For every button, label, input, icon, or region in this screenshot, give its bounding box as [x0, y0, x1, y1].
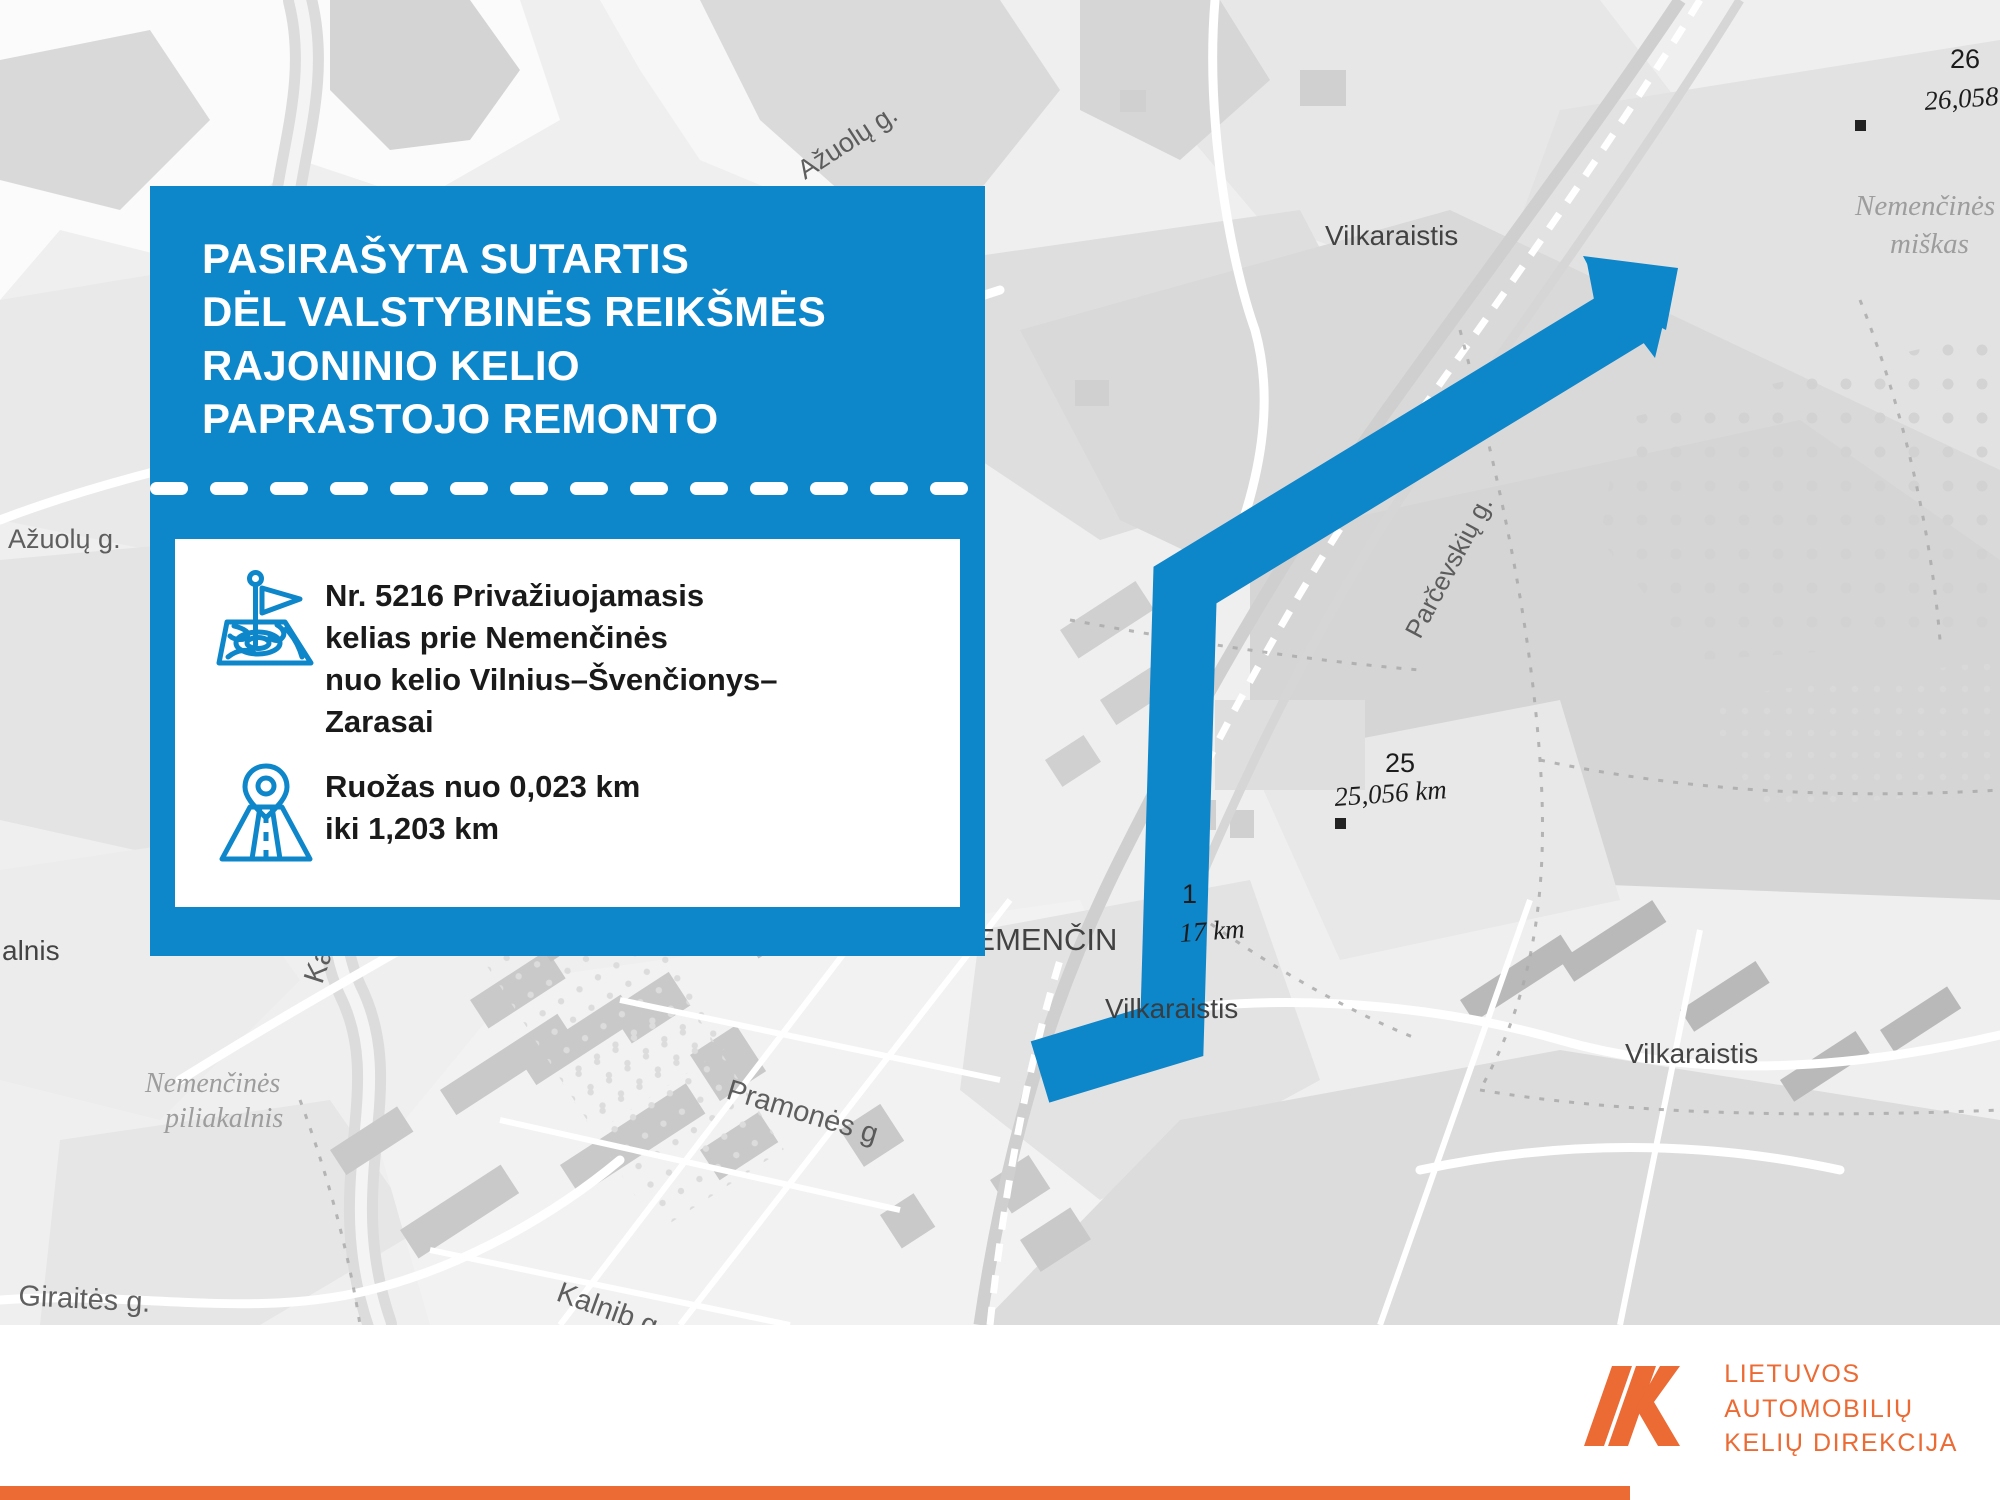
footer: LIETUVOS AUTOMOBILIŲ KELIŲ DIREKCIJA [0, 1325, 2000, 1500]
dashed-separator [150, 482, 985, 495]
map-label: 26 [1950, 44, 1980, 74]
title-line-1: PASIRAŠYTA SUTARTIS [202, 232, 933, 285]
details-card: Nr. 5216 Privažiuojamasis kelias prie Ne… [175, 539, 960, 907]
panel-title: PASIRAŠYTA SUTARTIS DĖL VALSTYBINĖS REIK… [150, 186, 985, 445]
separator-dash [570, 482, 608, 495]
info-panel: PASIRAŠYTA SUTARTIS DĖL VALSTYBINĖS REIK… [150, 186, 985, 956]
lakd-chevron-logo-icon [1584, 1366, 1702, 1451]
map-label: Nemenčinės [1854, 190, 1995, 222]
separator-dash [390, 482, 428, 495]
separator-dash [870, 482, 908, 495]
separator-dash [210, 482, 248, 495]
road-info-line-3: nuo kelio Vilnius–Švenčionys– [325, 659, 778, 701]
separator-dash [510, 482, 548, 495]
logo-line-3: KELIŲ DIREKCIJA [1724, 1426, 1958, 1461]
separator-dash [930, 482, 968, 495]
road-pin-icon [207, 760, 325, 864]
section-text: Ruožas nuo 0,023 km iki 1,203 km [325, 760, 640, 850]
separator-dash [330, 482, 368, 495]
map-label: Vilkaraistis [1625, 1038, 1758, 1069]
map-label: Vilkaraistis [1105, 993, 1238, 1024]
map-label: 25 [1385, 748, 1415, 778]
separator-dash [270, 482, 308, 495]
separator-dash [750, 482, 788, 495]
map-label: Nemenčinės [144, 1068, 280, 1099]
map-label: alnis [2, 935, 60, 966]
separator-dash [630, 482, 668, 495]
logo-line-1: LIETUVOS [1724, 1357, 1958, 1392]
road-info-line-2: kelias prie Nemenčinės [325, 617, 778, 659]
title-line-3: RAJONINIO KELIO [202, 339, 933, 392]
road-info-line-4: Zarasai [325, 701, 778, 743]
separator-dash [690, 482, 728, 495]
section-row: Ruožas nuo 0,023 km iki 1,203 km [175, 742, 960, 864]
separator-dash [450, 482, 488, 495]
section-line-1: Ruožas nuo 0,023 km [325, 766, 640, 808]
title-line-2: DĖL VALSTYBINĖS REIKŠMĖS [202, 285, 933, 338]
map-label: 17 km [1178, 914, 1245, 948]
separator-dash [150, 482, 188, 495]
road-info-row: Nr. 5216 Privažiuojamasis kelias prie Ne… [175, 539, 960, 742]
map-label: piliakalnis [163, 1103, 283, 1134]
road-info-line-1: Nr. 5216 Privažiuojamasis [325, 575, 778, 617]
map-flag-icon [207, 569, 325, 673]
road-info-text: Nr. 5216 Privažiuojamasis kelias prie Ne… [325, 569, 778, 742]
map-label: miškas [1890, 228, 1969, 260]
title-line-4: PAPRASTOJO REMONTO [202, 392, 933, 445]
map-label: Ažuolų g. [8, 524, 121, 554]
section-line-2: iki 1,203 km [325, 808, 640, 850]
orange-accent-bar [0, 1486, 1630, 1500]
logo-line-2: AUTOMOBILIŲ [1724, 1392, 1958, 1427]
map-label: 1 [1182, 879, 1197, 909]
map-label: Vilkaraistis [1325, 220, 1458, 251]
lakd-logo: LIETUVOS AUTOMOBILIŲ KELIŲ DIREKCIJA [1584, 1357, 1958, 1461]
lakd-logo-text: LIETUVOS AUTOMOBILIŲ KELIŲ DIREKCIJA [1724, 1357, 1958, 1461]
separator-dash [810, 482, 848, 495]
